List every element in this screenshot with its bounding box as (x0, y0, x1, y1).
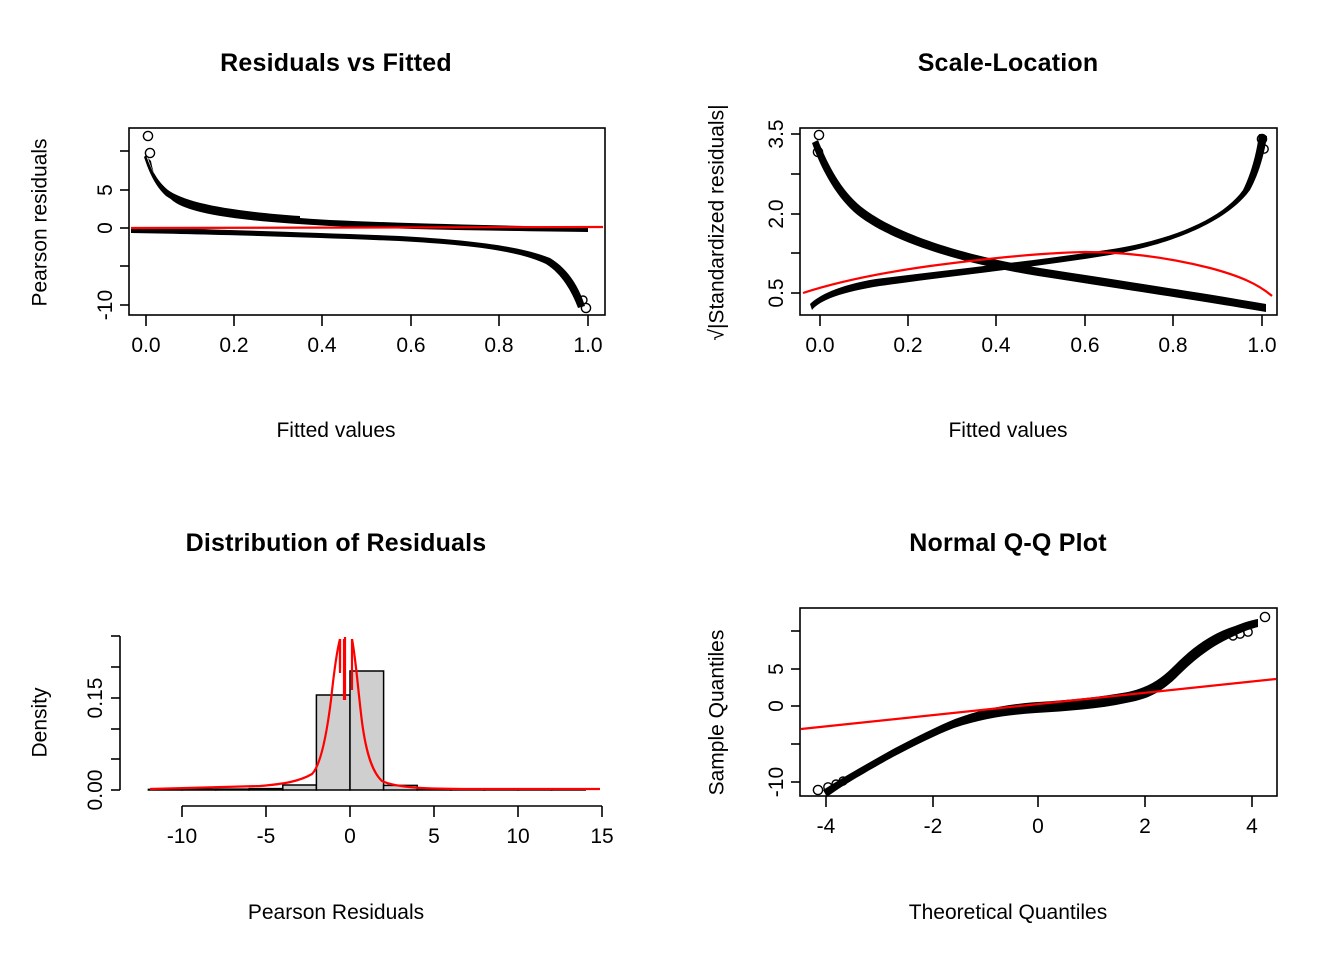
svg-text:2.0: 2.0 (765, 199, 788, 228)
histogram-bar (216, 789, 250, 790)
data-points-upper-branch (144, 155, 588, 232)
y-axis-ticks (791, 631, 800, 782)
svg-text:0.00: 0.00 (84, 770, 107, 811)
histogram-bar (350, 671, 384, 790)
histogram-bars (148, 671, 585, 790)
svg-text:0.0: 0.0 (131, 334, 160, 357)
svg-text:1.0: 1.0 (1247, 334, 1276, 357)
svg-text:4: 4 (1246, 815, 1258, 838)
svg-text:5: 5 (94, 184, 117, 196)
svg-text:0: 0 (344, 825, 356, 848)
outlier-points (813, 130, 1268, 156)
svg-text:0.15: 0.15 (84, 678, 107, 719)
x-axis-tick-labels: -10 -5 0 5 10 15 (167, 825, 614, 848)
plot-canvas-distribution-of-residuals: 0.15 0.00 -10 -5 0 5 10 15 (0, 480, 672, 960)
svg-text:5: 5 (428, 825, 440, 848)
y-axis-tick-labels: 0.15 0.00 (84, 678, 107, 811)
svg-text:15: 15 (590, 825, 613, 848)
svg-text:3.5: 3.5 (765, 119, 788, 148)
svg-text:-2: -2 (924, 815, 943, 838)
svg-text:0.5: 0.5 (765, 278, 788, 307)
x-axis-ticks (146, 315, 588, 326)
y-axis-tick-labels: 3.5 2.0 0.5 (765, 119, 788, 307)
qq-reference-line (801, 679, 1276, 729)
histogram-bar (182, 789, 216, 790)
svg-text:0.8: 0.8 (1158, 334, 1187, 357)
svg-text:5: 5 (765, 663, 788, 675)
histogram-bar (316, 695, 350, 790)
svg-text:0.2: 0.2 (219, 334, 248, 357)
y-axis-ticks (791, 134, 800, 293)
svg-text:-4: -4 (817, 815, 836, 838)
data-points-qq (823, 619, 1258, 797)
reference-line-zero (131, 227, 603, 228)
x-axis-tick-labels: 0.0 0.2 0.4 0.6 0.8 1.0 (805, 334, 1276, 357)
svg-text:0.8: 0.8 (484, 334, 513, 357)
svg-text:0: 0 (1032, 815, 1044, 838)
svg-text:1.0: 1.0 (573, 334, 602, 357)
svg-text:0.4: 0.4 (307, 334, 337, 357)
x-axis-ticks (820, 315, 1262, 326)
y-axis-tick-labels: 5 0 -10 (765, 663, 788, 797)
svg-text:-5: -5 (257, 825, 276, 848)
x-axis-ticks (182, 806, 602, 817)
svg-text:0.0: 0.0 (805, 334, 834, 357)
plot-canvas-scale-location: 3.5 2.0 0.5 0.0 0.2 0.4 0.6 0.8 1.0 (672, 0, 1344, 480)
panel-residuals-vs-fitted: Residuals vs Fitted Pearson residuals Fi… (0, 0, 672, 480)
panel-distribution-of-residuals: Distribution of Residuals Density Pearso… (0, 480, 672, 960)
y-axis-tick-labels: 5 0 -10 (94, 184, 117, 320)
x-axis-ticks (826, 796, 1252, 807)
svg-text:0.4: 0.4 (981, 334, 1011, 357)
y-axis-ticks (120, 151, 129, 305)
y-axis-ticks (111, 636, 120, 790)
svg-text:0: 0 (94, 222, 117, 234)
plot-canvas-residuals-vs-fitted: 5 0 -10 0.0 0.2 0.4 0.6 0.8 1.0 (0, 0, 672, 480)
svg-text:2: 2 (1139, 815, 1151, 838)
plot-frame (129, 128, 605, 315)
svg-text:0.6: 0.6 (1070, 334, 1099, 357)
x-axis-tick-labels: 0.0 0.2 0.4 0.6 0.8 1.0 (131, 334, 602, 357)
panel-normal-qq-plot: Normal Q-Q Plot Sample Quantiles Theoret… (672, 480, 1344, 960)
svg-text:-10: -10 (167, 825, 197, 848)
svg-text:0.6: 0.6 (396, 334, 425, 357)
data-points-lower-branch (131, 227, 585, 308)
svg-text:0: 0 (765, 700, 788, 712)
histogram-bar (283, 785, 317, 790)
svg-text:0.2: 0.2 (893, 334, 922, 357)
svg-text:-10: -10 (765, 767, 788, 797)
svg-text:-10: -10 (94, 290, 117, 320)
histogram-bar (249, 789, 283, 790)
svg-text:10: 10 (506, 825, 529, 848)
x-axis-tick-labels: -4 -2 0 2 4 (817, 815, 1259, 838)
plot-canvas-normal-qq-plot: 5 0 -10 -4 -2 0 2 4 (672, 480, 1344, 960)
panel-scale-location: Scale-Location √|Standardized residuals|… (672, 0, 1344, 480)
